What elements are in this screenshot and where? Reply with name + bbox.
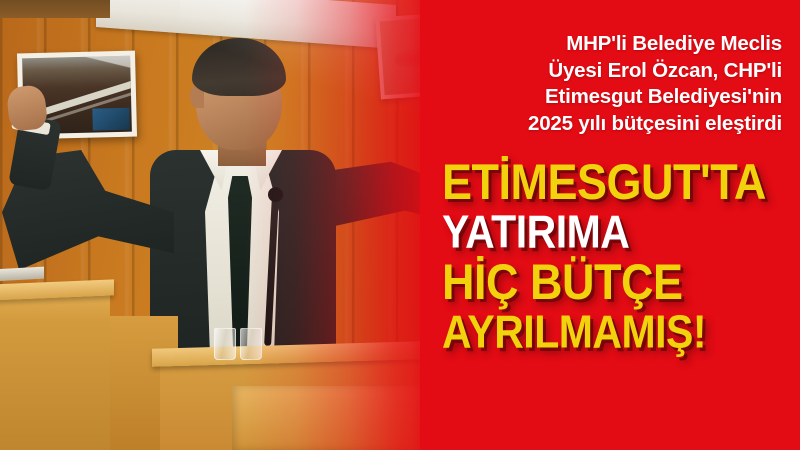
kicker-line-2: Üyesi Erol Özcan, CHP'li (430, 58, 782, 85)
kicker-line-1: MHP'li Belediye Meclis (430, 31, 782, 58)
headline-text: ETİMESGUT'TA YATIRIMA HİÇ BÜTÇE AYRILMAM… (442, 154, 798, 354)
headline-line-4: AYRILMAMIŞ! (442, 304, 798, 360)
speaker-photograph (0, 0, 470, 450)
headline-line-3: HİÇ BÜTÇE (442, 254, 798, 310)
kicker-text: MHP'li Belediye Meclis Üyesi Erol Özcan,… (430, 31, 782, 137)
kicker-line-4: 2025 yılı bütçesini eleştirdi (430, 111, 782, 138)
headline-line-1: ETİMESGUT'TA (442, 154, 798, 210)
kicker-line-3: Etimesgut Belediyesi'nin (430, 84, 782, 111)
news-banner-image: MHP'li Belediye Meclis Üyesi Erol Özcan,… (0, 0, 800, 450)
headline-line-2: YATIRIMA (442, 204, 798, 260)
photo-red-tint-gradient (0, 0, 470, 450)
banner-text-block: MHP'li Belediye Meclis Üyesi Erol Özcan,… (420, 0, 800, 450)
